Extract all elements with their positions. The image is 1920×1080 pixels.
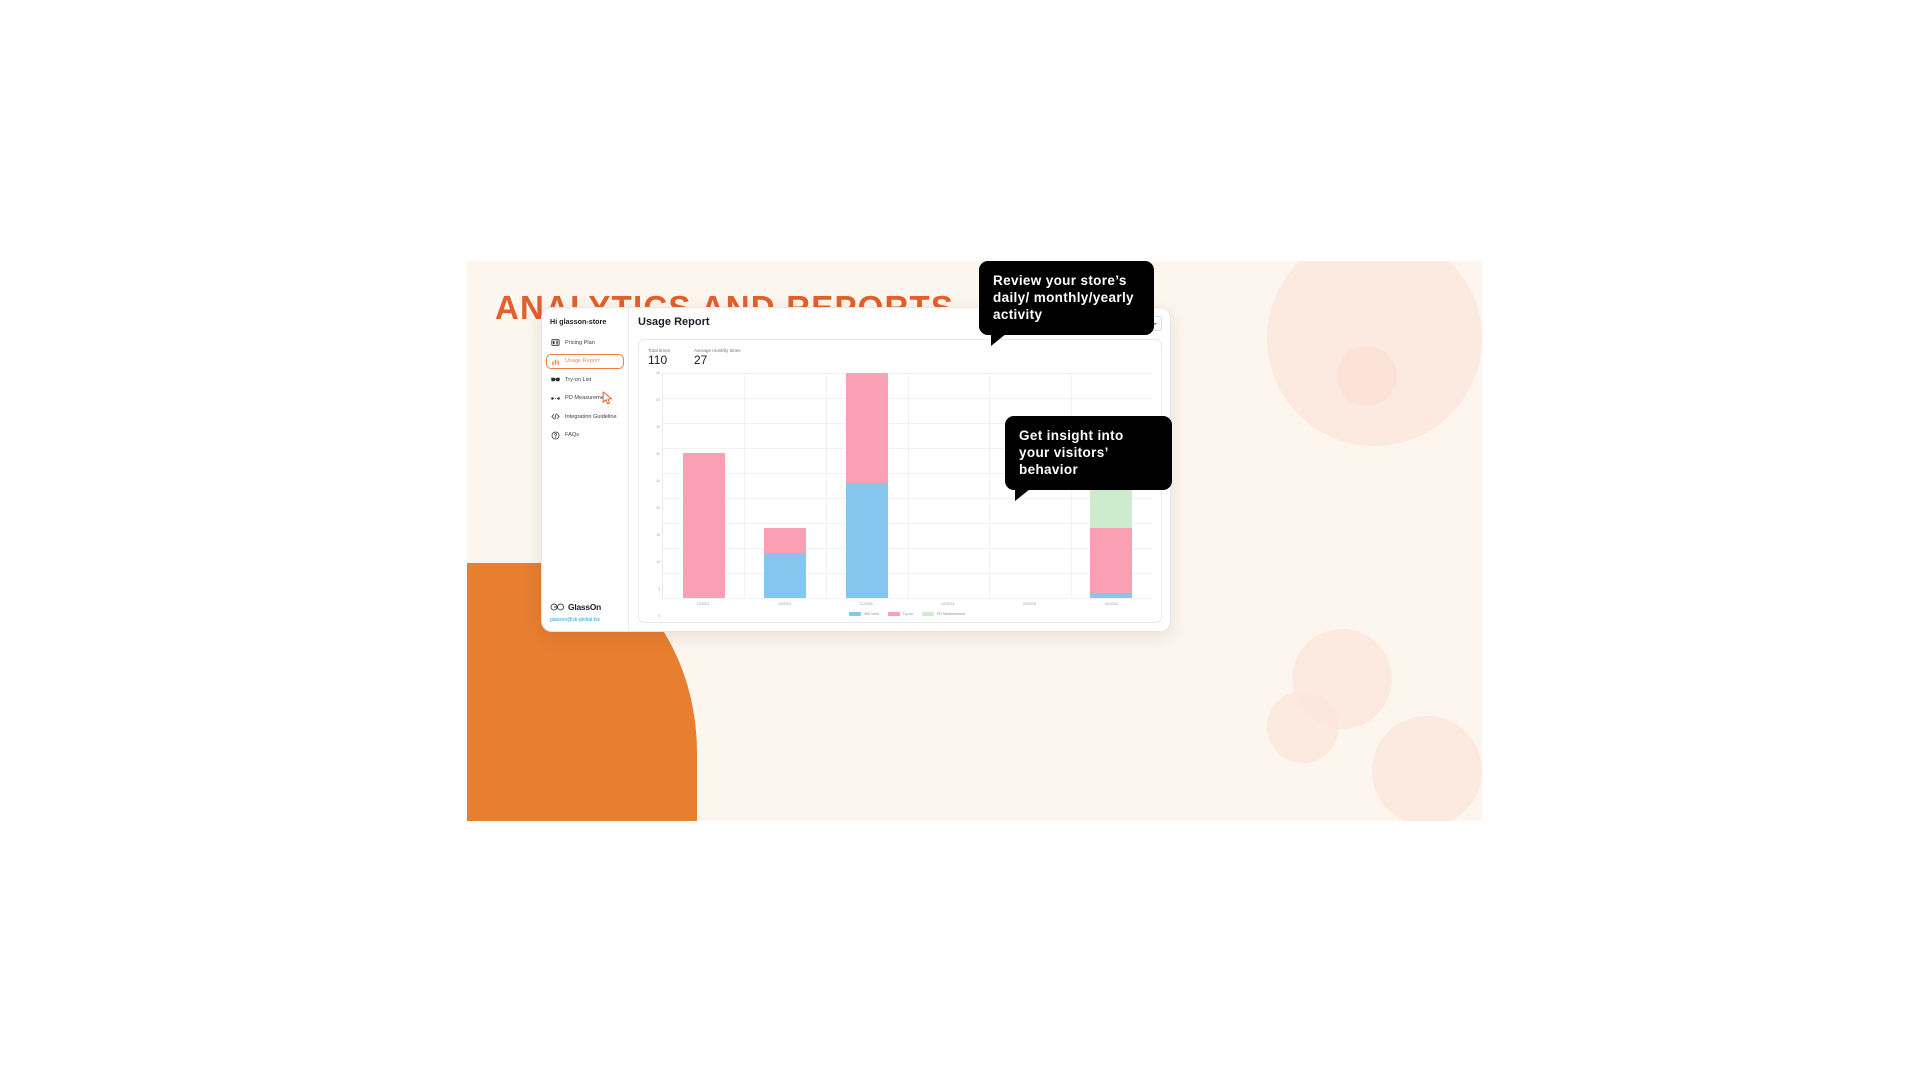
legend-item[interactable]: 360 View [849, 612, 879, 617]
sidebar-nav: Pricing Plan Usage Report [542, 335, 628, 598]
sidebar-item-label: Try-on List [565, 377, 591, 383]
chart-legend: 360 ViewTry-onPD Measurement [662, 610, 1152, 617]
legend-label: 360 View [864, 612, 879, 616]
bar-segment[interactable] [764, 553, 806, 598]
gridline [989, 373, 990, 598]
slide-canvas: ANALYTICS AND REPORTS Hi glasson-store P… [467, 261, 1482, 821]
callout-text: Get insight into your visitors’ behavior [1019, 428, 1124, 477]
bar-segment[interactable] [846, 483, 888, 598]
sidebar-item-label: Usage Report [565, 358, 600, 364]
y-axis-tick-label: 0 [658, 614, 660, 618]
summary-stats: Total times 110 Average monthly times 27 [648, 348, 1152, 367]
decorative-blob [1372, 716, 1482, 821]
legend-swatch [888, 612, 900, 617]
x-axis-tick-label: 04/2024 [1105, 602, 1118, 606]
legend-label: Try-on [903, 612, 913, 616]
sidebar-item-integration-guideline[interactable]: Integration Guideline [547, 409, 623, 424]
legend-item[interactable]: PD Measurement [922, 612, 965, 617]
pricing-card-icon [551, 338, 560, 347]
bar-stack[interactable] [764, 373, 806, 598]
y-axis-tick-label: 35 [656, 425, 660, 429]
x-axis-tick-label: 11/2023 [696, 602, 709, 606]
x-axis: 11/202312/202301/202402/202403/202404/20… [662, 599, 1152, 610]
bar-stack[interactable] [846, 373, 888, 598]
sidebar-item-label: Integration Guideline [565, 414, 617, 420]
callout-tail [1015, 489, 1030, 501]
stat-value: 110 [648, 354, 670, 367]
store-greeting: Hi glasson-store [542, 317, 628, 326]
legend-swatch [922, 612, 934, 617]
bar-chart-icon [551, 357, 560, 366]
gridline [744, 373, 745, 598]
legend-item[interactable]: Try-on [888, 612, 913, 617]
brand-logo: GlassOn [550, 598, 628, 616]
stat-value: 27 [694, 354, 741, 367]
stat-average-monthly-times: Average monthly times 27 [694, 348, 741, 367]
callout-visitor-insight: Get insight into your visitors’ behavior [1005, 416, 1172, 490]
decorative-blob [1267, 691, 1339, 763]
glasson-logo-icon [550, 598, 565, 616]
y-axis-tick-label: 5 [658, 587, 660, 591]
brand-email[interactable]: glasson@sk-global.biz [550, 617, 628, 623]
bar-segment[interactable] [683, 453, 725, 598]
bar-stack[interactable] [927, 373, 969, 598]
bar-segment[interactable] [1090, 488, 1132, 528]
y-axis-tick-label: 15 [656, 533, 660, 537]
sidebar-item-label: FAQs [565, 432, 579, 438]
sidebar-item-usage-report[interactable]: Usage Report [546, 354, 624, 369]
y-axis-tick-label: 40 [656, 398, 660, 402]
sidebar-item-pricing-plan[interactable]: Pricing Plan [547, 335, 623, 350]
sidebar-item-label: Pricing Plan [565, 340, 595, 346]
bar-stack[interactable] [683, 373, 725, 598]
y-axis-tick-label: 30 [656, 452, 660, 456]
legend-label: PD Measurement [937, 612, 965, 616]
callout-review-activity: Review your store’s daily/ monthly/yearl… [979, 261, 1154, 335]
y-axis-tick-label: 25 [656, 479, 660, 483]
legend-swatch [849, 612, 861, 617]
pd-measure-icon [551, 394, 560, 403]
report-title: Usage Report [638, 316, 710, 328]
sidebar-item-faqs[interactable]: FAQs [547, 428, 623, 443]
bar-segment[interactable] [1090, 528, 1132, 593]
usage-bar-chart: 051015202530354045 11/202312/202301/2024… [648, 373, 1152, 616]
bar-segment[interactable] [1090, 593, 1132, 598]
plot-area-wrapper: 11/202312/202301/202402/202403/202404/20… [662, 373, 1152, 616]
y-axis-tick-label: 20 [656, 506, 660, 510]
question-circle-icon [551, 431, 560, 440]
bar-segment[interactable] [846, 373, 888, 483]
brand-name: GlassOn [568, 602, 601, 612]
decorative-blob [1337, 346, 1397, 406]
gridline [826, 373, 827, 598]
bar-segment[interactable] [764, 528, 806, 553]
decorative-blob [1292, 629, 1392, 729]
y-axis: 051015202530354045 [648, 373, 662, 616]
sidebar: Hi glasson-store Pricing Plan [542, 308, 629, 631]
glasses-icon [551, 375, 560, 384]
sidebar-item-pd-measurement[interactable]: PD Measurement [547, 391, 623, 406]
sidebar-footer: GlassOn glasson@sk-global.biz [542, 598, 628, 624]
sidebar-item-label: PD Measurement [565, 395, 609, 401]
stat-total-times: Total times 110 [648, 348, 670, 367]
y-axis-tick-label: 10 [656, 560, 660, 564]
x-axis-tick-label: 02/2024 [941, 602, 954, 606]
callout-text: Review your store’s daily/ monthly/yearl… [993, 273, 1134, 322]
code-brackets-icon [551, 412, 560, 421]
decorative-blob [1267, 261, 1482, 446]
x-axis-tick-label: 03/2024 [1023, 602, 1036, 606]
gridline [908, 373, 909, 598]
sidebar-item-try-on-list[interactable]: Try-on List [547, 372, 623, 387]
y-axis-tick-label: 45 [656, 371, 660, 375]
x-axis-tick-label: 01/2024 [860, 602, 873, 606]
x-axis-tick-label: 12/2023 [778, 602, 791, 606]
callout-tail [991, 333, 1007, 346]
